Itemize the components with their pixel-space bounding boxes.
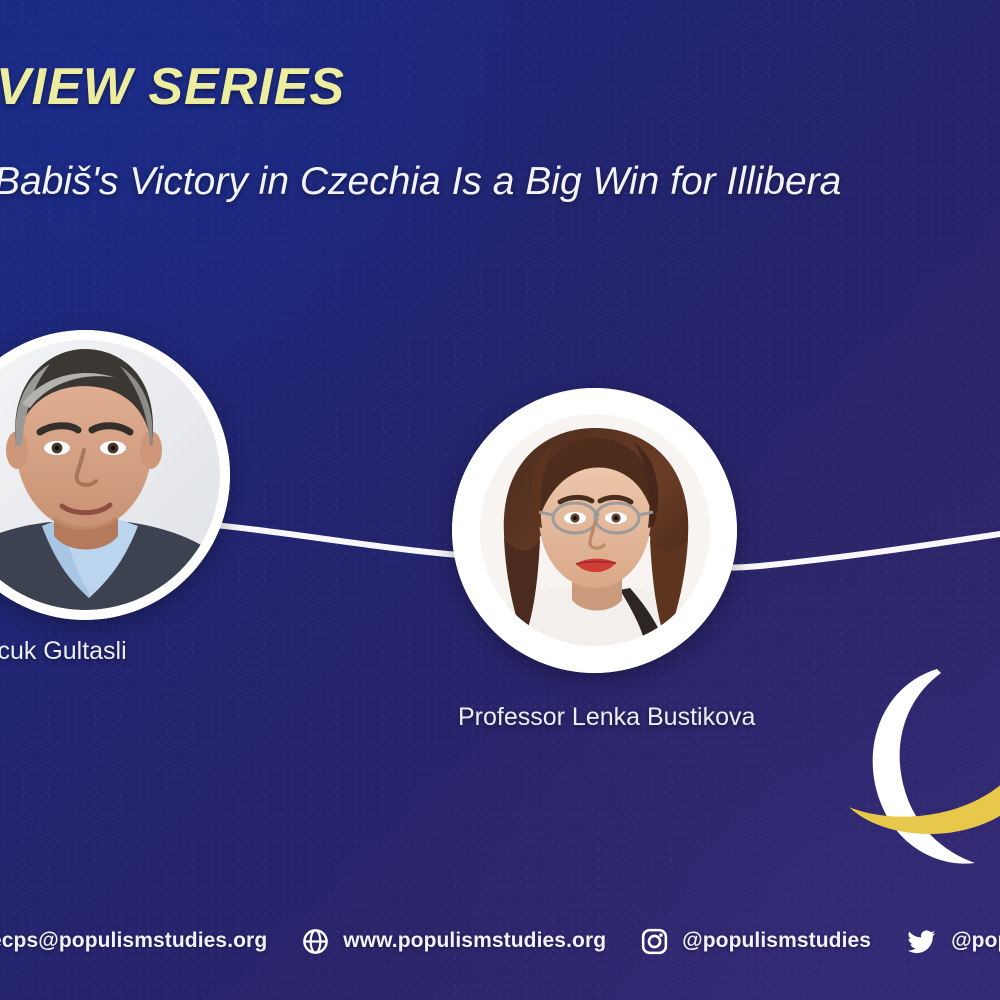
contact-twitter[interactable]: @populismstu — [905, 925, 1000, 958]
ecps-logo — [845, 655, 1000, 880]
instagram-icon — [640, 927, 669, 956]
photo-guest-art — [480, 414, 710, 647]
globe-icon — [301, 927, 330, 956]
portrait-interviewer — [0, 330, 230, 620]
poster-canvas: VIEW SERIES Babiš's Victory in Czechia I… — [0, 0, 1000, 1000]
caption-guest: Professor Lenka Bustikova — [458, 703, 755, 732]
footer-contact-bar: ecps@populismstudies.org www.populismstu… — [0, 882, 1000, 1000]
photo-guest — [480, 414, 710, 647]
contact-instagram[interactable]: @populismstudies — [640, 927, 871, 956]
contact-email[interactable]: ecps@populismstudies.org — [0, 928, 267, 955]
twitter-icon — [905, 925, 938, 958]
contact-website[interactable]: www.populismstudies.org — [301, 927, 606, 956]
contact-instagram-label: @populismstudies — [682, 929, 871, 953]
series-title: VIEW SERIES — [0, 57, 345, 117]
caption-interviewer: elcuk Gultasli — [0, 637, 127, 666]
portrait-guest — [452, 388, 737, 673]
interview-subtitle: Babiš's Victory in Czechia Is a Big Win … — [0, 160, 841, 204]
contact-twitter-label: @populismstu — [951, 929, 1000, 953]
contact-website-label: www.populismstudies.org — [343, 929, 606, 953]
contact-email-label: ecps@populismstudies.org — [0, 929, 267, 953]
